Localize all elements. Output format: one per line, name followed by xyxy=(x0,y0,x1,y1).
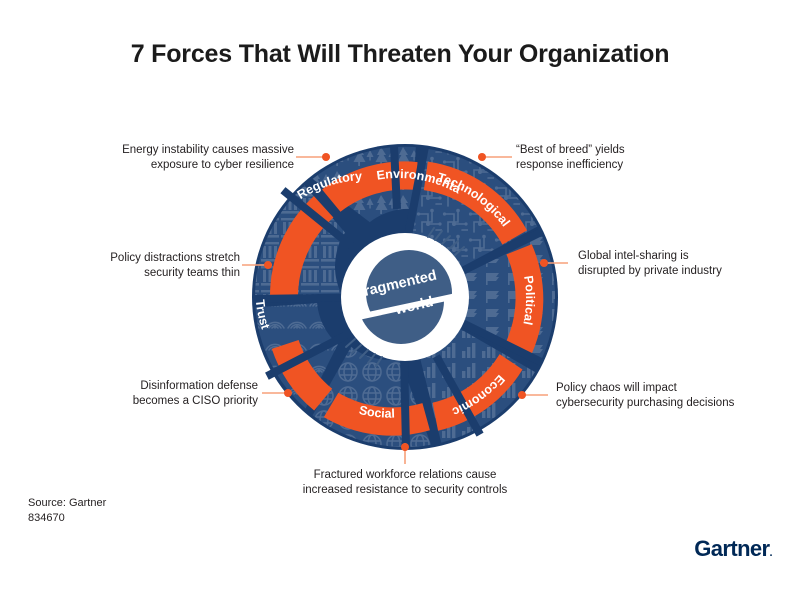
wheel-svg: Fragmented world Technological Political… xyxy=(0,0,800,600)
callout-regulatory: Policy distractions stretch security tea… xyxy=(40,251,240,281)
leader-social xyxy=(401,443,409,464)
callout-environmental: Energy instability causes massive exposu… xyxy=(60,143,294,173)
source-note: Source: Gartner 834670 xyxy=(28,496,106,526)
gartner-logo: Gartner. xyxy=(694,536,772,562)
callout-technological: “Best of breed” yields response ineffici… xyxy=(516,143,756,173)
forces-wheel-diagram: Fragmented world Technological Political… xyxy=(0,0,800,600)
leader-economic xyxy=(518,391,548,399)
callout-trust: Disinformation defense becomes a CISO pr… xyxy=(56,379,258,409)
leader-environmental xyxy=(296,153,330,161)
gartner-logo-mark: . xyxy=(770,547,772,559)
gartner-logo-wordmark: Gartner xyxy=(694,536,769,561)
callout-social: Fractured workforce relations cause incr… xyxy=(255,468,555,498)
leader-technological xyxy=(478,153,512,161)
callout-economic: Policy chaos will impact cybersecurity p… xyxy=(556,381,786,411)
leader-trust xyxy=(262,389,292,397)
callout-political: Global intel-sharing is disrupted by pri… xyxy=(578,249,788,279)
